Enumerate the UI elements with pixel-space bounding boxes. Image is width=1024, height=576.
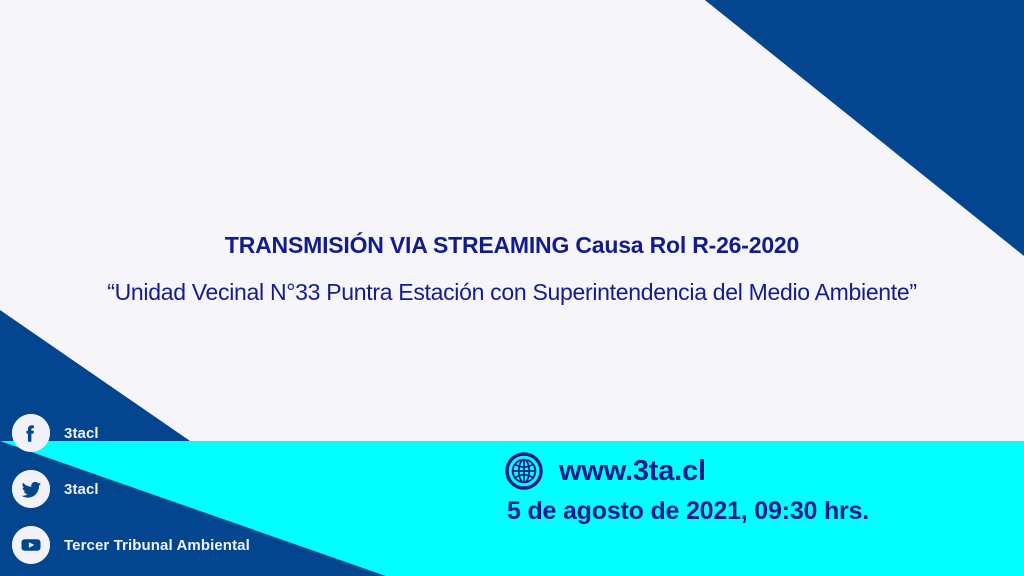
headline-block: TRANSMISIÓN VIA STREAMING Causa Rol R-26… [0, 228, 1024, 309]
twitter-icon [12, 470, 50, 508]
globe-icon [505, 452, 543, 490]
social-item-facebook[interactable]: 3tacl [12, 412, 250, 454]
youtube-icon [12, 526, 50, 564]
website-row[interactable]: www.3ta.cl [505, 452, 869, 490]
social-item-twitter[interactable]: 3tacl [12, 468, 250, 510]
social-links-list: 3tacl 3tacl Tercer Tribunal Ambiental [12, 412, 250, 566]
facebook-icon [12, 414, 50, 452]
case-subtitle: “Unidad Vecinal N°33 Puntra Estación con… [0, 275, 1024, 309]
social-handle-youtube: Tercer Tribunal Ambiental [64, 537, 250, 554]
streaming-announcement-slide: TRANSMISIÓN VIA STREAMING Causa Rol R-26… [0, 0, 1024, 576]
website-url[interactable]: www.3ta.cl [559, 455, 706, 488]
page-title: TRANSMISIÓN VIA STREAMING Causa Rol R-26… [0, 228, 1024, 262]
social-item-youtube[interactable]: Tercer Tribunal Ambiental [12, 524, 250, 566]
top-right-navy-triangle [700, 0, 1024, 256]
event-datetime: 5 de agosto de 2021, 09:30 hrs. [507, 497, 869, 526]
social-handle-twitter: 3tacl [64, 481, 99, 498]
website-date-block: www.3ta.cl 5 de agosto de 2021, 09:30 hr… [505, 452, 869, 526]
social-handle-facebook: 3tacl [64, 425, 99, 442]
